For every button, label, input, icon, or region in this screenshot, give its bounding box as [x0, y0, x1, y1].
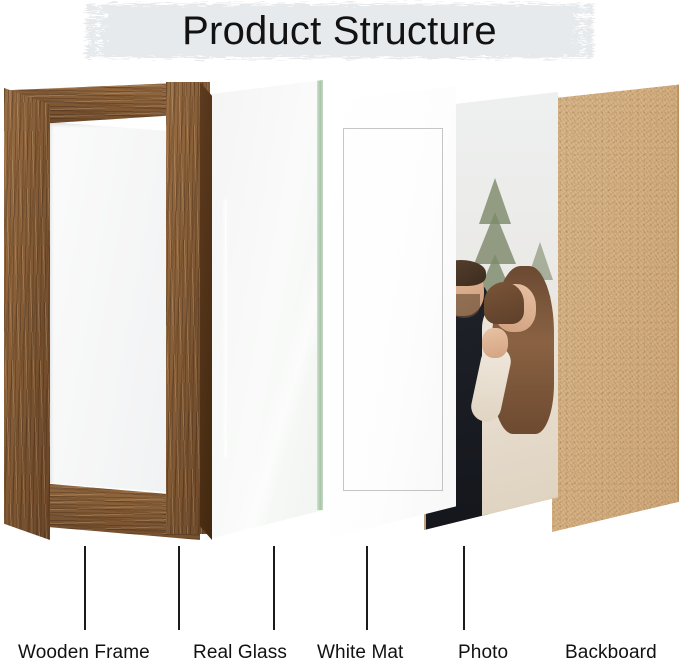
layer-backboard: [552, 84, 679, 532]
layer-real-glass: [205, 80, 323, 540]
glass-gleam: [225, 200, 226, 458]
glass-highlight: [205, 80, 323, 540]
leader-line-real-glass: [178, 546, 180, 630]
page-title: Product Structure: [0, 0, 679, 62]
frame-inner-bevel: [48, 122, 168, 492]
layer-white-mat: [330, 86, 456, 538]
product-structure-infographic: Product Structure: [0, 0, 679, 666]
label-white-mat: White Mat: [317, 642, 403, 664]
label-photo: Photo: [458, 642, 508, 664]
leader-line-backboard: [463, 546, 465, 630]
label-real-glass: Real Glass: [193, 642, 287, 664]
layer-wooden-frame: [4, 82, 222, 546]
frame-depth-edge: [200, 82, 212, 540]
leader-line-white-mat: [273, 546, 275, 630]
label-backboard: Backboard: [565, 642, 657, 664]
leader-line-wooden-frame: [84, 546, 86, 630]
label-wooden-frame: Wooden Frame: [18, 642, 150, 664]
exploded-layer-stage: [0, 62, 679, 542]
frame-rail-left: [4, 88, 50, 540]
mat-aperture-bevel: [343, 128, 443, 492]
photo-hand: [482, 328, 508, 358]
glass-green-edge: [317, 80, 323, 540]
leader-line-photo: [366, 546, 368, 630]
photo-woman-hair-top: [484, 282, 524, 324]
